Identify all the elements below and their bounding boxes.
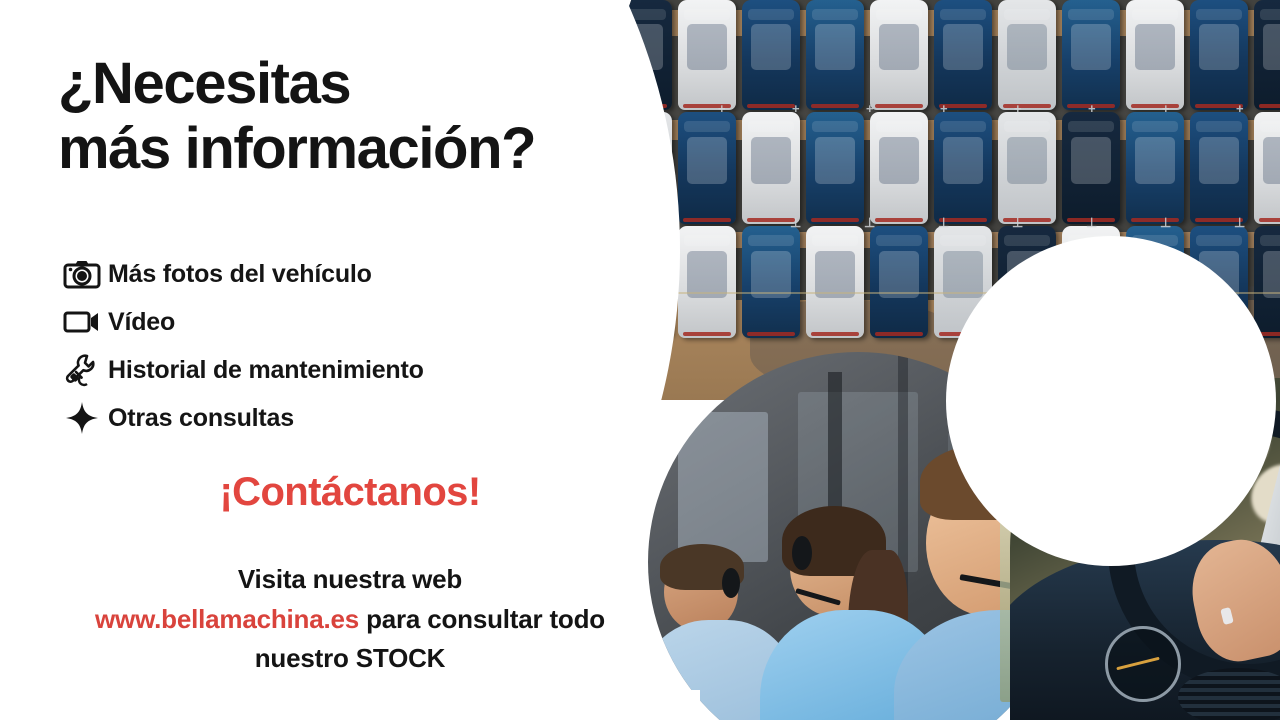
promo-banner: + + + + + + + + + + + ⊥ ⊥ ⊥ ⊥ ⊥ ⊥ ⊥ ⊥ ⊥ [0,0,1280,720]
page-title: ¿Necesitas más información? [58,52,698,182]
headline-line-2: más información? [58,117,698,182]
website-url[interactable]: www.bellamachina.es [95,604,359,634]
list-item-label: Vídeo [108,308,175,337]
camera-icon [56,254,108,294]
wrench-icon [56,350,108,390]
list-item: Otras consultas [56,394,616,442]
contact-cta: ¡Contáctanos! [0,470,700,515]
video-camera-icon [56,302,108,342]
list-item: Historial de mantenimiento [56,346,616,394]
list-item: Más fotos del vehículo [56,250,616,298]
list-item-label: Más fotos del vehículo [108,260,372,289]
text-column: ¿Necesitas más información? Más fotos de… [0,0,1280,720]
list-item-label: Otras consultas [108,404,294,433]
website-block: Visita nuestra web www.bellamachina.es p… [0,560,700,679]
list-item: Vídeo [56,298,616,346]
headline-line-1: ¿Necesitas [58,51,350,116]
list-item-label: Historial de mantenimiento [108,356,424,385]
website-url-line: www.bellamachina.es para consultar todo [0,600,700,640]
sparkle-icon [56,398,108,438]
website-url-suffix: para consultar todo [359,604,605,634]
feature-list: Más fotos del vehículo Vídeo [56,250,616,442]
stock-line: nuestro STOCK [0,639,700,679]
visit-web-line: Visita nuestra web [0,560,700,600]
